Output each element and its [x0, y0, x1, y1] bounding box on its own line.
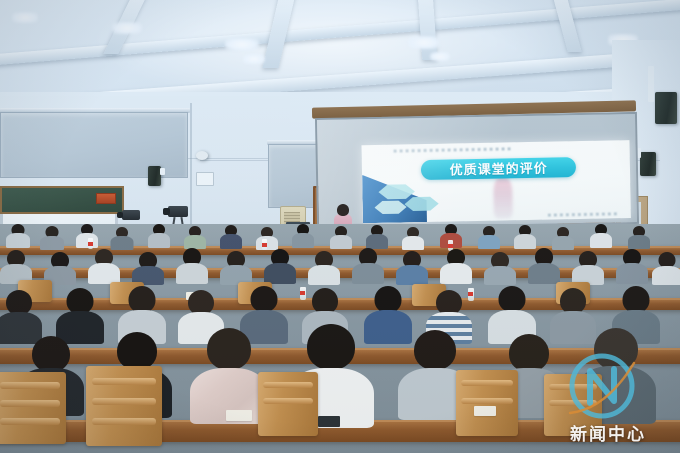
person-torso [652, 266, 680, 285]
chair-front-4[interactable] [456, 370, 518, 436]
slide-title-pill: 优质课堂的评价 [421, 157, 577, 180]
person-torso [308, 265, 340, 285]
audience-person-mid-7 [264, 249, 296, 284]
audience-person-far-18 [628, 226, 650, 249]
presentation-slide: 优质课堂的评价 [361, 140, 630, 223]
audience-person-mid-16 [652, 252, 680, 285]
audience-person-far-6 [184, 226, 206, 249]
ceiling-light-1 [12, 12, 38, 23]
person-head [499, 286, 526, 312]
smartphone-on-desk[interactable] [318, 416, 340, 427]
person-torso [220, 234, 242, 249]
person-torso [396, 265, 428, 285]
chair-slat [461, 380, 513, 386]
video-camera-1 [168, 206, 188, 217]
chair-slat [549, 384, 597, 390]
audience-person-far-1 [6, 224, 30, 248]
slide-hexagon-1 [378, 183, 415, 200]
handout-front-1[interactable] [226, 410, 252, 421]
audience-person-mid-11 [440, 249, 472, 284]
audience-person-mid-14 [572, 251, 604, 285]
audience-person-far-11 [366, 225, 388, 249]
chair-slat [263, 398, 313, 404]
ceiling-light-3 [225, 38, 259, 51]
ceiling-light-2 [112, 22, 142, 34]
person-torso [366, 234, 388, 249]
chair-slat [92, 378, 156, 385]
person-head [32, 336, 70, 372]
audience-person-mid-13 [528, 248, 560, 284]
person-torso [292, 233, 314, 248]
audience-person-mid-1 [0, 250, 32, 284]
audience-person-far-17 [590, 224, 612, 248]
person-torso [528, 263, 560, 284]
slide-header-note [394, 147, 512, 152]
ceiling-light-5 [408, 36, 440, 49]
chair-slat [92, 418, 156, 425]
person-torso [110, 236, 133, 250]
person-torso [40, 236, 64, 250]
audience-person-far-5 [148, 224, 170, 248]
person-torso [88, 263, 120, 284]
audience-person-mid-3 [88, 249, 120, 284]
slide-hexagon-3 [374, 200, 406, 215]
person-torso [330, 235, 352, 249]
audience-person-mid-10 [396, 251, 428, 285]
person-torso [148, 233, 170, 248]
person-head [117, 332, 157, 370]
person-head [594, 328, 638, 370]
person-torso [352, 263, 384, 284]
audience-person-far-3 [76, 224, 98, 248]
audience-person-far-10 [330, 226, 352, 249]
slide-hexagon-cluster [368, 179, 476, 222]
person-head [414, 330, 456, 370]
person-head [623, 286, 650, 313]
person-torso [440, 263, 472, 284]
audience-person-far-4 [110, 227, 133, 250]
speaker-bracket-left-1 [160, 168, 165, 175]
audience-person-mid-4 [132, 252, 164, 285]
ceiling-light-4 [243, 54, 265, 64]
chair-slat [0, 400, 60, 407]
small-red-plate-left [96, 193, 116, 204]
audience-person-far-12 [402, 227, 424, 250]
person-torso [256, 236, 278, 250]
screenshot-root: 19:06 优质课堂的评价 [0, 0, 680, 453]
person-head [251, 286, 278, 312]
person-torso [628, 235, 650, 249]
person-head [307, 324, 355, 370]
person-torso [484, 266, 516, 285]
audience-person-mid-5 [176, 248, 208, 284]
audience-person-far-9 [292, 224, 314, 248]
chair-slat [92, 398, 156, 405]
audience-person-far-2 [40, 226, 64, 250]
person-torso [616, 263, 648, 284]
water-bottle-far-1 [88, 238, 93, 249]
wall-speaker-left-2 [196, 151, 208, 160]
chair-front-2[interactable] [86, 366, 162, 446]
presenter-head [337, 204, 349, 216]
chair-slat [263, 382, 313, 388]
person-torso [6, 233, 30, 248]
chair-front-5[interactable] [544, 374, 602, 436]
audience-person-far-15 [514, 225, 536, 249]
audience-person-far-7 [220, 225, 242, 249]
chair-front-3[interactable] [258, 372, 318, 436]
person-torso [478, 235, 500, 249]
person-torso [402, 236, 424, 250]
wall-speaker-right-upper [655, 92, 677, 124]
chair-slat [0, 382, 60, 389]
slide-hexagon-2 [404, 196, 439, 212]
speaker-bracket-right-upper [648, 66, 654, 102]
chair-front-1[interactable] [0, 372, 66, 444]
ceiling-light-6 [430, 52, 450, 61]
video-camera-1-lens [163, 208, 170, 215]
audience-person-far-16 [552, 227, 574, 250]
person-torso [76, 233, 98, 248]
person-torso [590, 233, 612, 248]
audience-person-mid-6 [220, 251, 252, 285]
wall-speaker-right-lower [640, 152, 656, 176]
person-torso [184, 235, 206, 249]
person-head [375, 286, 402, 313]
audience-person-far-14 [478, 226, 500, 249]
wall-control-box-left[interactable] [196, 172, 214, 186]
slide-title-text: 优质课堂的评价 [449, 158, 547, 179]
person-torso [264, 263, 296, 284]
audience-person-mid-15 [616, 249, 648, 284]
person-head [207, 328, 251, 370]
person-torso [176, 263, 208, 284]
audience-person-mid-12 [484, 252, 516, 285]
audience-person-mid-9 [352, 248, 384, 284]
chair-slat [461, 398, 513, 404]
projector-screen-board: 优质课堂的评价 [315, 112, 639, 230]
wall-seam-3 [190, 103, 192, 228]
chair-slat [0, 418, 60, 425]
person-head [509, 334, 549, 372]
video-camera-2 [122, 210, 140, 220]
handout-front-2[interactable] [474, 406, 496, 416]
person-head [129, 286, 156, 313]
slide-footer-note [548, 212, 618, 216]
chair-slat [549, 400, 597, 406]
audience-area [0, 224, 680, 453]
audience-person-far-8 [256, 227, 278, 250]
person-torso [514, 234, 536, 249]
audience-person-mid-8 [308, 251, 340, 285]
video-camera-2-lens [117, 212, 123, 218]
slide-figure-graphic [493, 177, 513, 219]
